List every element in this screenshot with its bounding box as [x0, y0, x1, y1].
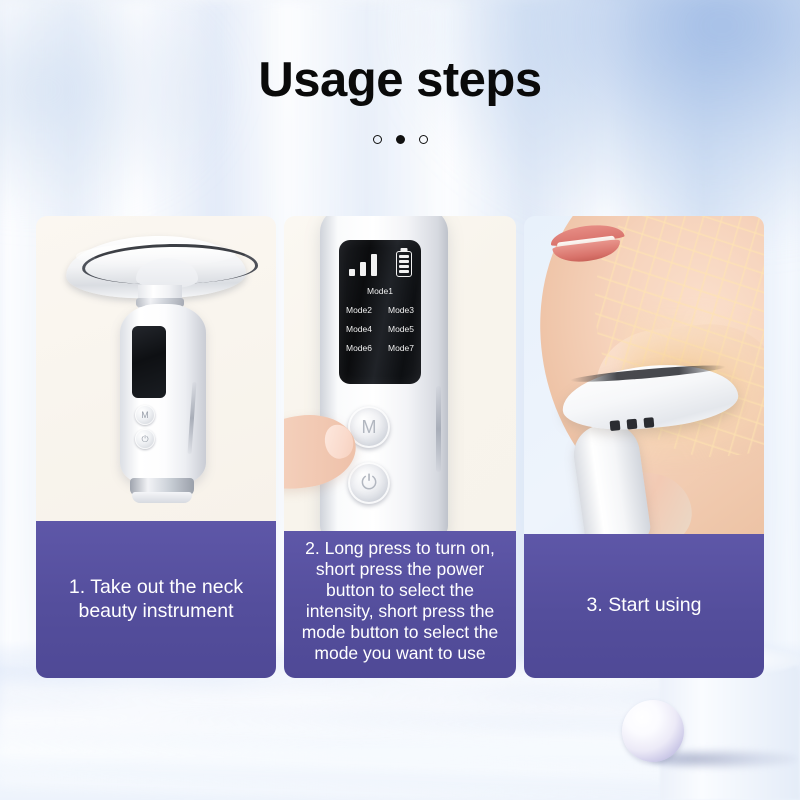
- step-1-caption: 1. Take out the neck beauty instrument: [36, 521, 276, 678]
- step-2-image: Mode1 Mode2 Mode3 Mode4 Mode5 Mode6 Mo: [284, 216, 516, 531]
- lips: [550, 226, 624, 260]
- mode-label-list: Mode1 Mode2 Mode3 Mode4 Mode5 Mode6 Mo: [339, 286, 421, 362]
- mode-row-1: Mode1: [339, 286, 421, 296]
- steps-row: M ⏻ 1. Take out the neck beauty instrume…: [0, 0, 800, 800]
- intensity-bar-3: [371, 254, 377, 276]
- device-base-bottom: [132, 492, 192, 503]
- step-2-caption: 2. Long press to turn on, short press th…: [284, 531, 516, 678]
- neck-device-illustration: M ⏻: [80, 230, 232, 514]
- intensity-bar-2: [360, 262, 366, 276]
- battery-segment-4: [399, 270, 409, 273]
- mode-row-2: Mode2 Mode3: [339, 305, 421, 315]
- mode-row-4: Mode6 Mode7: [339, 343, 421, 353]
- battery-icon: [396, 251, 412, 277]
- face-neck-illustration: [524, 216, 764, 534]
- step-card-2[interactable]: Mode1 Mode2 Mode3 Mode4 Mode5 Mode6 Mo: [284, 216, 516, 678]
- electrode-2: [627, 419, 638, 430]
- mode-label-2: Mode2: [346, 305, 372, 315]
- power-button-closeup: ⏻: [348, 462, 390, 504]
- step-3-caption: 3. Start using: [524, 534, 764, 678]
- device-mode-button: M: [135, 405, 155, 425]
- step-card-3[interactable]: 3. Start using: [524, 216, 764, 678]
- step-card-1[interactable]: M ⏻ 1. Take out the neck beauty instrume…: [36, 216, 276, 678]
- mode-label-1: Mode1: [367, 286, 393, 296]
- mode-row-3: Mode4 Mode5: [339, 324, 421, 334]
- mode-label-7: Mode7: [388, 343, 414, 353]
- battery-segment-3: [399, 265, 409, 268]
- device-side-slot-closeup: [436, 386, 441, 472]
- electrode-3: [643, 417, 654, 428]
- step-3-image: [524, 216, 764, 534]
- mode-label-6: Mode6: [346, 343, 372, 353]
- device-display-screen: [132, 326, 166, 398]
- device-display-screen-closeup: Mode1 Mode2 Mode3 Mode4 Mode5 Mode6 Mo: [339, 240, 421, 384]
- intensity-bar-1: [349, 269, 355, 276]
- step-1-image: M ⏻: [36, 216, 276, 521]
- electrode-1: [610, 420, 621, 431]
- device-power-button: ⏻: [135, 429, 155, 449]
- battery-segment-1: [399, 255, 409, 258]
- device-closeup-illustration: Mode1 Mode2 Mode3 Mode4 Mode5 Mode6 Mo: [284, 216, 516, 531]
- mode-label-5: Mode5: [388, 324, 414, 334]
- battery-segment-2: [399, 260, 409, 263]
- intensity-level-bars-icon: [349, 252, 377, 276]
- mode-label-3: Mode3: [388, 305, 414, 315]
- mode-label-4: Mode4: [346, 324, 372, 334]
